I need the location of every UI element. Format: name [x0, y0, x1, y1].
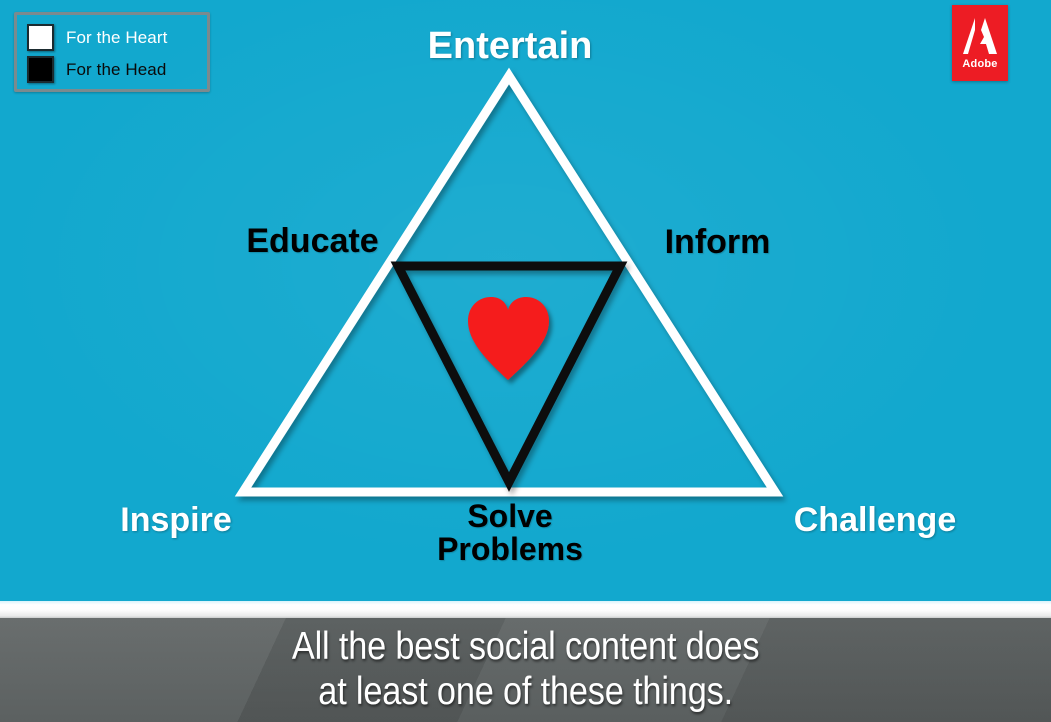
- label-inspire: Inspire: [72, 503, 280, 538]
- slide-canvas: For the Heart For the Head Adobe Enterta…: [0, 0, 1051, 722]
- caption-band: All the best social content does at leas…: [0, 618, 1051, 722]
- label-solve-problems: Solve Problems: [395, 500, 625, 565]
- label-inform: Inform: [625, 225, 810, 260]
- outer-white-triangle: [243, 76, 775, 492]
- caption-text: All the best social content does at leas…: [292, 625, 760, 715]
- label-challenge: Challenge: [760, 503, 990, 538]
- heart-icon: [468, 297, 549, 380]
- label-entertain: Entertain: [380, 27, 640, 66]
- label-educate: Educate: [200, 224, 425, 259]
- gradient-divider: [0, 601, 1051, 618]
